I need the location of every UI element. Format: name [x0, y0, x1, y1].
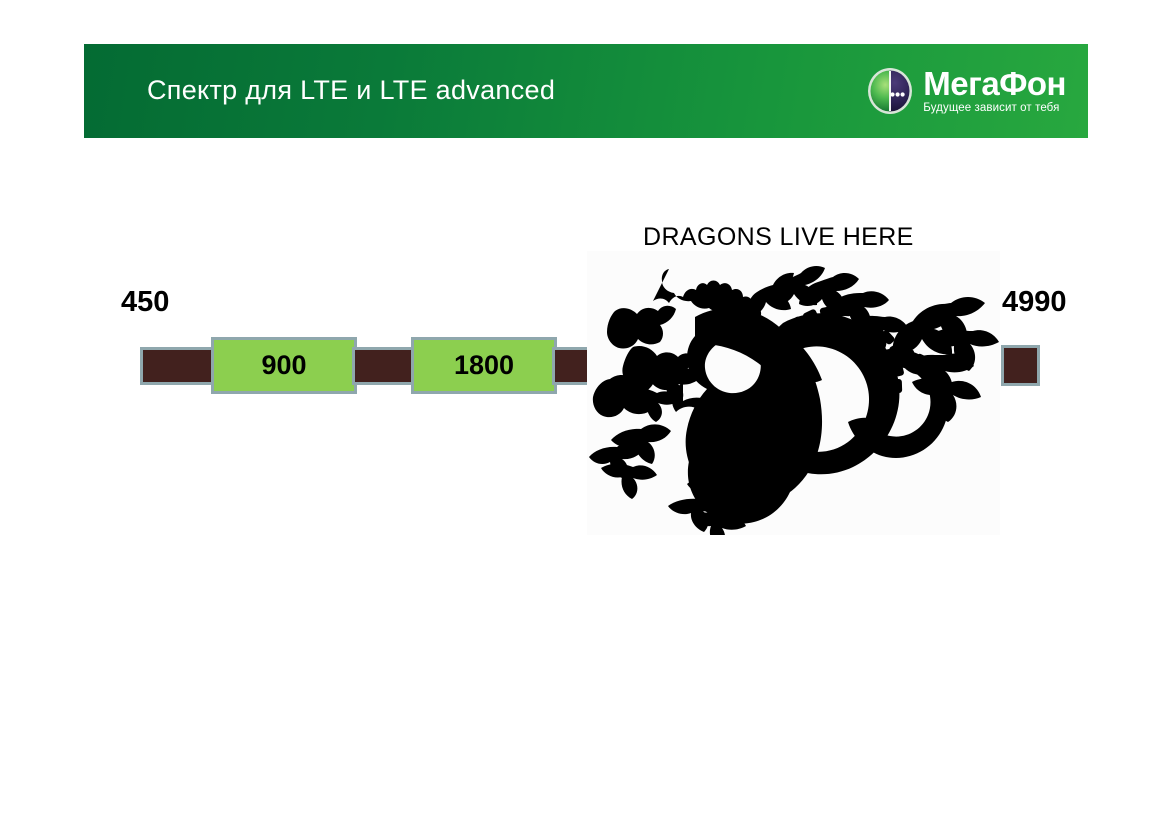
- spectrum-segment-left: [140, 347, 216, 385]
- spectrum-end-label: 4990: [1002, 286, 1067, 319]
- spectrum-segment-right: [1001, 345, 1040, 386]
- dragon-silhouette-icon: [587, 251, 1000, 535]
- spectrum-band-label: 900: [261, 352, 306, 379]
- spectrum-band-1800[interactable]: 1800: [411, 337, 557, 394]
- spectrum-band-900[interactable]: 900: [211, 337, 357, 394]
- spectrum-band-label: 1800: [454, 352, 514, 379]
- spectrum-segment-mid-1: [352, 347, 416, 385]
- slide-canvas: Спектр для LTE и LTE advanced: [0, 0, 1170, 827]
- spectrum-start-label: 450: [121, 286, 169, 319]
